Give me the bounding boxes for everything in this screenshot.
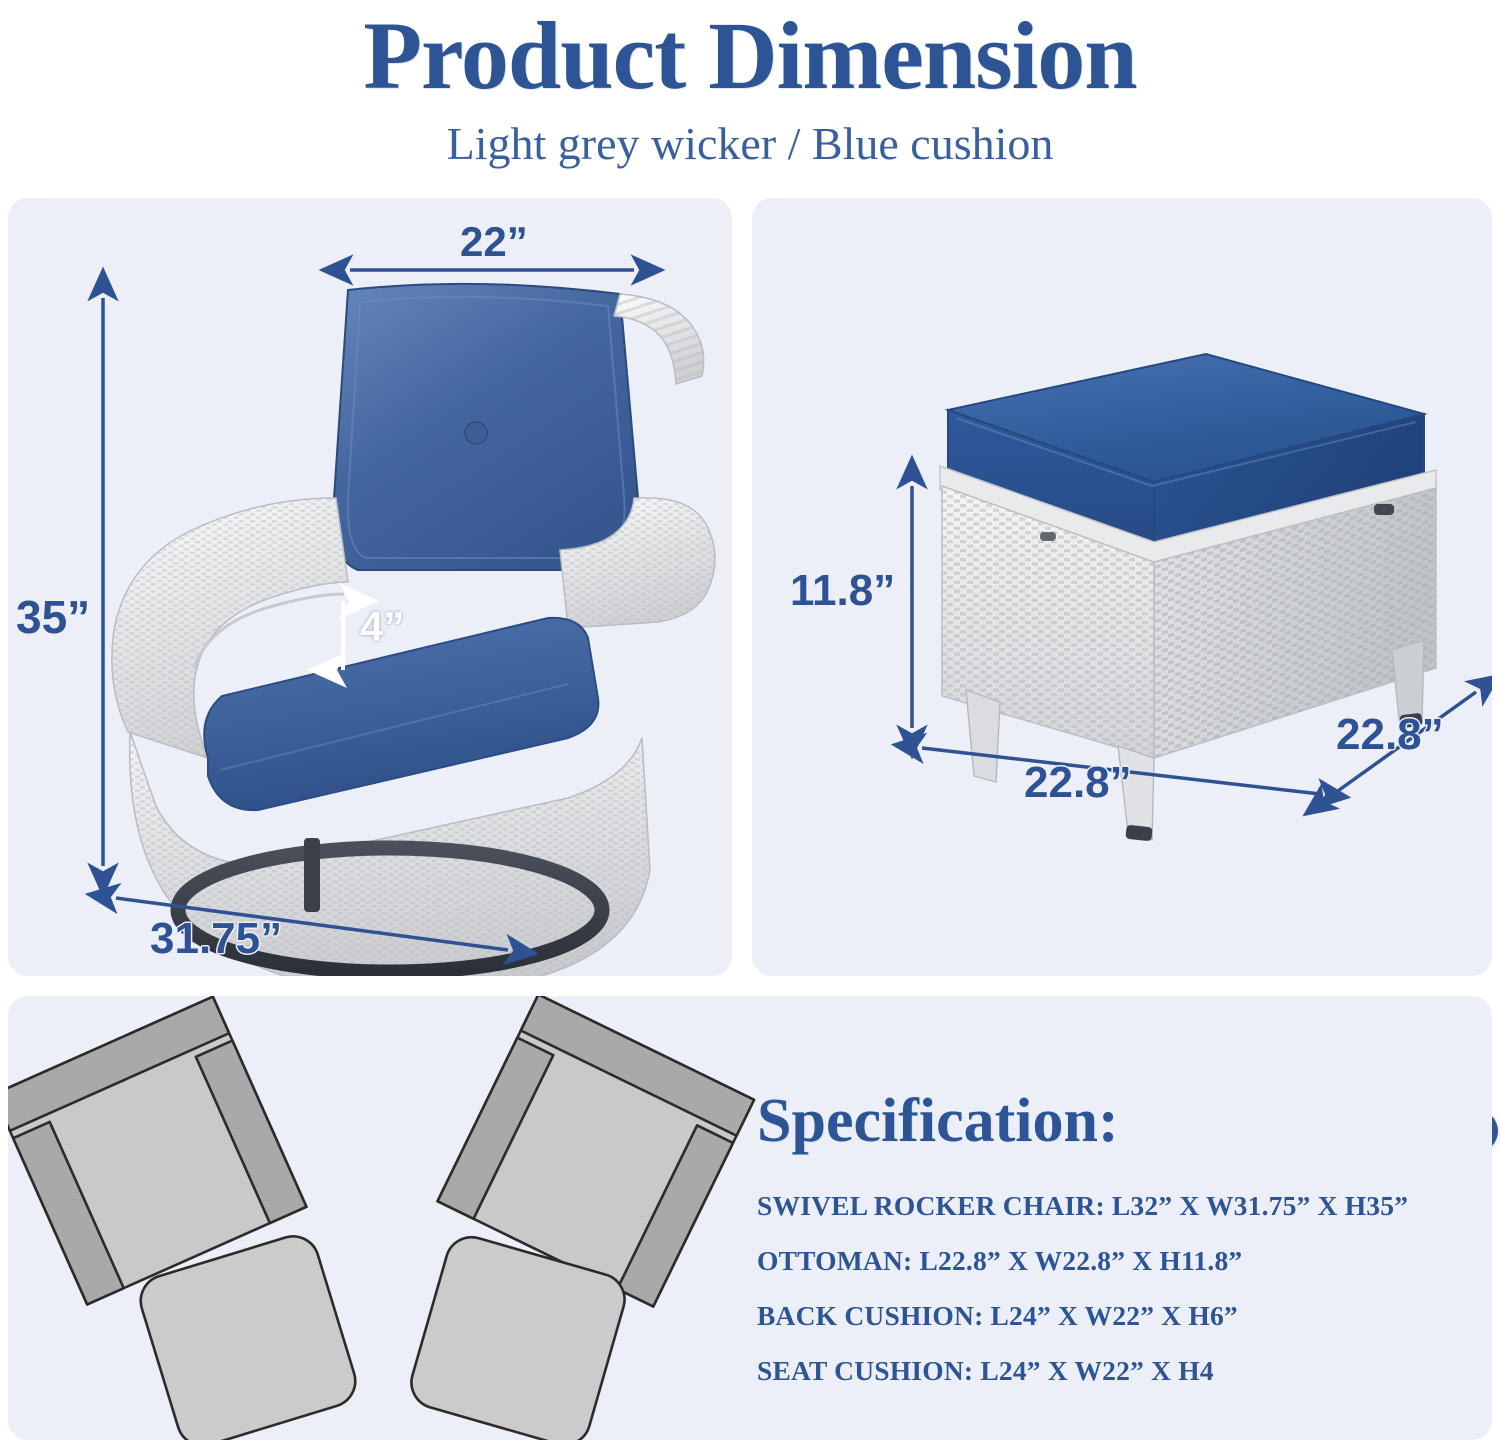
ottoman-depth-label: 22.8” (1336, 710, 1444, 760)
specification-item: SEAT CUSHION: L24” X W22” X H4 (757, 1343, 1457, 1398)
chair-height-label: 35” (16, 590, 90, 644)
swivel-rocker-panel: 22” 35” 31.75” 4” X 2 Swivel rocker (8, 198, 732, 976)
ottoman-height-label: 11.8” (790, 566, 895, 616)
page-title: Product Dimension (0, 2, 1500, 110)
ottoman-width-label: 22.8” (1024, 758, 1132, 808)
specification-title: Specification: (757, 1086, 1119, 1157)
specification-item: BACK CUSHION: L24” X W22” X H6” (757, 1288, 1457, 1343)
specification-list: SWIVEL ROCKER CHAIR: L32” X W31.75” X H3… (757, 1178, 1457, 1398)
page-subtitle: Light grey wicker / Blue cushion (0, 116, 1500, 172)
specification-item: OTTOMAN: L22.8” X W22.8” X H11.8” (757, 1233, 1457, 1288)
specification-item: SWIVEL ROCKER CHAIR: L32” X W31.75” X H3… (757, 1178, 1457, 1233)
chair-width-label: 22” (460, 218, 528, 266)
seat-cushion-thickness-label: 4” (360, 603, 404, 651)
seat-thickness-arrow (8, 198, 732, 976)
ottoman-panel: 11.8” 22.8” 22.8” X 2 Ottoman (752, 198, 1492, 976)
page-header: Product Dimension Light grey wicker / Bl… (0, 0, 1500, 172)
chair-depth-label: 31.75” (150, 914, 282, 964)
